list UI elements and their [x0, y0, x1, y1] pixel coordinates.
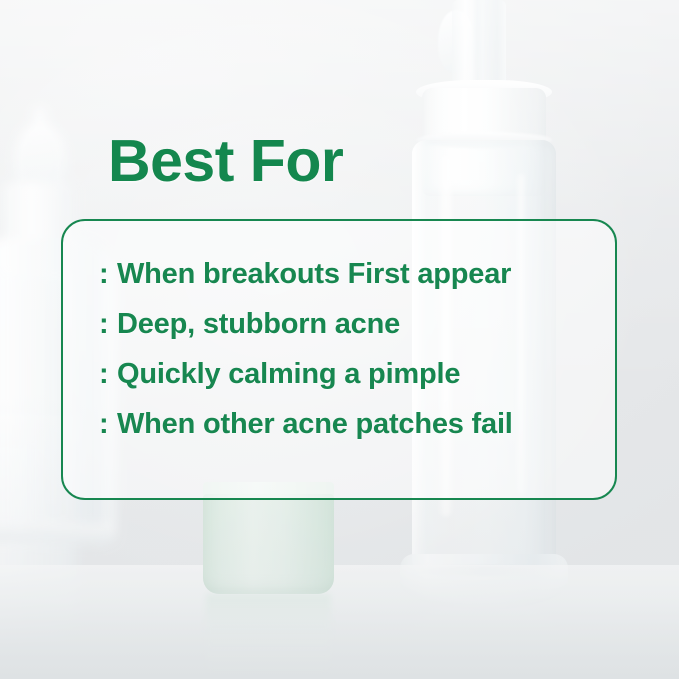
list-item: : When other acne patches fail: [99, 408, 619, 458]
infographic-canvas: Best For : When breakouts First appear :…: [0, 0, 679, 679]
list-item-label: When other acne patches fail: [117, 408, 513, 441]
list-item: : When breakouts First appear: [99, 258, 619, 308]
list-item: : Deep, stubborn acne: [99, 308, 619, 358]
bullet-marker-icon: :: [99, 258, 117, 291]
bullet-marker-icon: :: [99, 408, 117, 441]
list-item-label: When breakouts First appear: [117, 258, 511, 291]
page-title: Best For: [108, 131, 343, 193]
bullet-marker-icon: :: [99, 308, 117, 341]
bullet-marker-icon: :: [99, 358, 117, 391]
list-item-label: Deep, stubborn acne: [117, 308, 400, 341]
best-for-list: : When breakouts First appear : Deep, st…: [99, 258, 619, 458]
list-item-label: Quickly calming a pimple: [117, 358, 460, 391]
list-item: : Quickly calming a pimple: [99, 358, 619, 408]
overlay-content: Best For : When breakouts First appear :…: [0, 0, 679, 679]
